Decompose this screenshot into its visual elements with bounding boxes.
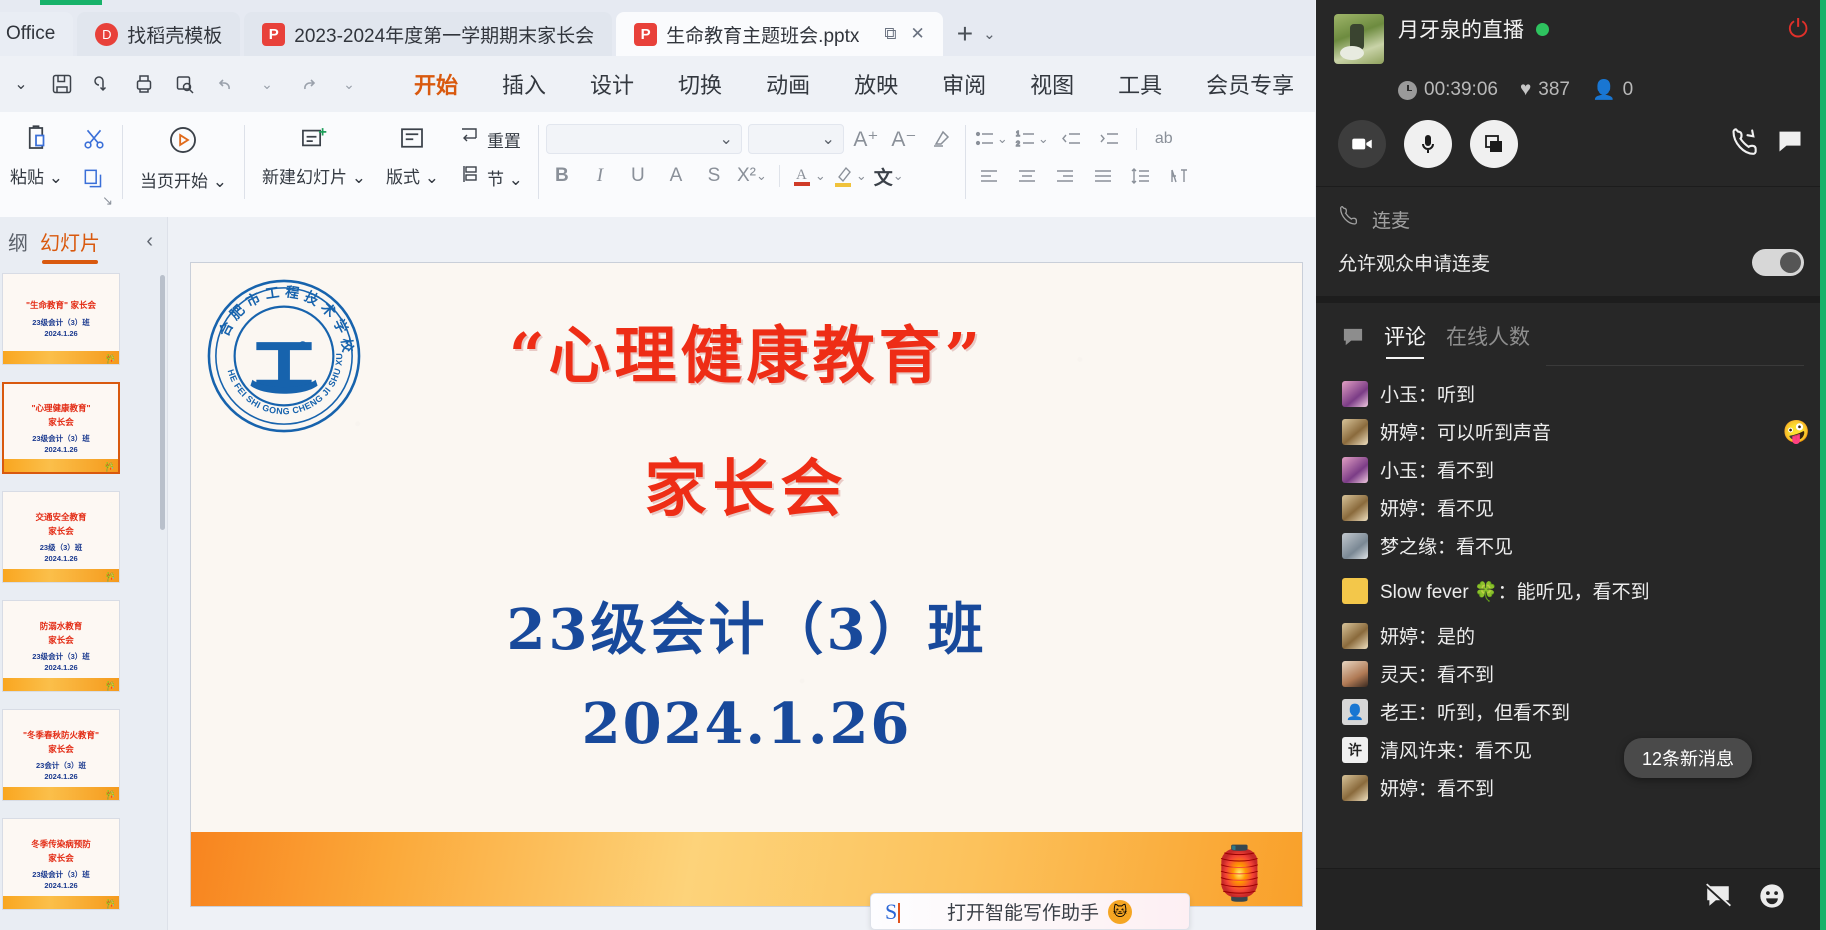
comment-text: 妍婷：看不到 xyxy=(1380,774,1494,801)
save-icon[interactable] xyxy=(43,65,81,103)
microphone-toggle-button[interactable] xyxy=(1404,120,1452,168)
pinyin-guide-button[interactable]: ab xyxy=(1148,124,1180,154)
thumb-footer-band xyxy=(3,678,119,691)
bold-button[interactable]: B xyxy=(546,161,578,191)
new-slide-button[interactable]: 新建幻灯片 ⌄ xyxy=(252,117,376,188)
ribbon-tab-design[interactable]: 设计 xyxy=(568,62,656,106)
avatar xyxy=(1342,775,1368,801)
emoji-icon[interactable] xyxy=(1758,882,1786,917)
thumb-title2: 家长会 xyxy=(48,852,74,864)
print-icon[interactable] xyxy=(125,65,163,103)
slide-thumbnail[interactable]: "冬季春秋防火教育" 家长会 23会计（3）班 2024.1.26 xyxy=(2,709,120,801)
start-from-current-button[interactable]: 当页开始 ⌄ xyxy=(130,117,237,192)
list-item: Slow fever 🍀：能听见，看不到 xyxy=(1342,577,1810,604)
thumb-title: 防溺水教育 xyxy=(40,620,83,633)
section-button[interactable]: 节 ⌄ xyxy=(449,159,531,195)
chevron-down-icon[interactable]: ⌄ xyxy=(2,65,40,103)
increase-indent-icon[interactable] xyxy=(1093,124,1125,154)
tab-label: 2023-2024年度第一学期期末家长会 xyxy=(294,21,594,48)
stat-viewers: 👤 0 xyxy=(1592,78,1633,102)
reaction-emoji: 🤪 xyxy=(1783,419,1810,445)
tab-life-education-pptx[interactable]: P 生命教育主题班会.pptx ⧉ ✕ xyxy=(616,12,943,56)
comment-text: 清风许来：看不见 xyxy=(1380,736,1532,763)
avatar xyxy=(1342,495,1368,521)
ribbon-tab-insert[interactable]: 插入 xyxy=(480,62,568,106)
stat-duration: 00:39:06 xyxy=(1398,79,1498,101)
thumb-footer-band xyxy=(3,569,119,582)
svg-text:1: 1 xyxy=(1016,131,1020,138)
assistant-label: 打开智能写作助手 xyxy=(947,898,1099,925)
slides-panel-scrollbar[interactable] xyxy=(160,275,165,530)
outline-tab[interactable]: 纲 xyxy=(8,227,28,256)
current-slide[interactable]: 合肥市工程技术学校 HE FEI SHI GONG CHENG JI SHU X… xyxy=(190,262,1303,907)
thumb-title2: 家长会 xyxy=(48,634,74,646)
avatar xyxy=(1342,419,1368,445)
align-right-icon[interactable] xyxy=(1049,161,1081,191)
divider xyxy=(538,125,539,199)
lantern-decoration-icon: 🏮 xyxy=(1207,843,1272,904)
person-icon: 👤 xyxy=(1592,78,1616,102)
justify-icon[interactable] xyxy=(1087,161,1119,191)
avatar xyxy=(1342,578,1368,604)
thumb-title2: 家长会 xyxy=(48,743,74,755)
live-controls xyxy=(1316,102,1826,168)
highlight-button[interactable]: ⌄ xyxy=(832,161,867,191)
decrease-indent-icon[interactable] xyxy=(1055,124,1087,154)
new-messages-badge[interactable]: 12条新消息 xyxy=(1624,738,1752,778)
text-direction-icon[interactable] xyxy=(1163,161,1195,191)
thumb-title2: 家长会 xyxy=(48,525,74,537)
ribbon-tabs: 开始 插入 设计 切换 动画 放映 审阅 视图 工具 会员专享 xyxy=(392,62,1316,106)
ribbon-tab-member[interactable]: 会员专享 xyxy=(1184,62,1316,106)
paste-icon xyxy=(21,123,51,159)
line-spacing-icon[interactable] xyxy=(1125,161,1157,191)
thumb-title: 交通安全教育 xyxy=(35,511,86,524)
live-panel-tabs: 评论 在线人数 xyxy=(1316,303,1826,359)
ribbon-tab-tools[interactable]: 工具 xyxy=(1096,62,1184,106)
ribbon-group-paragraph: ⌄ 12 ⌄ ab xyxy=(973,117,1195,213)
ribbon-tab-transition[interactable]: 切换 xyxy=(656,62,744,106)
font-size-select[interactable]: ⌄ xyxy=(748,124,844,154)
document-tab-bar: Office D 找稻壳模板 P 2023-2024年度第一学期期末家长会 P … xyxy=(0,0,1315,56)
stat-likes: ♥ 387 xyxy=(1520,79,1570,101)
avatar xyxy=(1342,457,1368,483)
italic-button[interactable]: I xyxy=(584,161,616,191)
tab-online-count[interactable]: 在线人数 xyxy=(1446,321,1530,359)
thumb-footer-band xyxy=(4,459,118,472)
thumb-title: "生命教育" 家长会 xyxy=(26,299,96,312)
new-slide-label: 新建幻灯片 ⌄ xyxy=(262,163,366,188)
chevron-down-icon: ⌄ xyxy=(720,129,733,149)
list-item: 小玉：看不到 xyxy=(1342,456,1810,483)
collapse-panel-icon[interactable]: ‹ xyxy=(146,230,159,253)
ribbon-group-clipboard: 粘贴 ⌄ ↘ xyxy=(0,117,115,213)
menu-bar: ⌄ ⌄ ⌄ xyxy=(0,56,1315,112)
comment-bubble-icon xyxy=(1342,327,1364,353)
paste-button[interactable]: 粘贴 ⌄ xyxy=(0,117,73,188)
underline-button[interactable]: U xyxy=(622,161,654,191)
list-item: 妍婷：看不见 xyxy=(1342,494,1810,521)
window-accent-bar xyxy=(40,0,102,5)
thumb-line1: 23级（3）班 xyxy=(40,542,83,553)
avatar xyxy=(1342,699,1368,725)
live-stream-panel: 月牙泉的直播 ⏻ 00:39:06 ♥ 387 👤 0 xyxy=(1316,0,1826,930)
avatar xyxy=(1342,623,1368,649)
numbered-list-icon[interactable]: 12 ⌄ xyxy=(1014,124,1049,154)
layout-label: 版式 ⌄ xyxy=(386,163,439,188)
comments-list[interactable]: 小玉：听到 妍婷：可以听到声音 🤪 小玉：看不到 妍婷：看不见 梦之缘：看不见 xyxy=(1316,366,1826,801)
new-tab-button[interactable]: + xyxy=(957,20,973,48)
ribbon-toolbar: 粘贴 ⌄ ↘ xyxy=(0,112,1315,217)
character-border-button[interactable]: A xyxy=(660,161,692,191)
bullet-list-icon[interactable]: ⌄ xyxy=(973,124,1008,154)
increase-font-size-button[interactable]: A⁺ xyxy=(850,124,882,154)
thumb-line2: 2024.1.26 xyxy=(44,328,77,339)
allow-lianmai-label: 允许观众申请连麦 xyxy=(1338,249,1490,276)
power-off-icon[interactable]: ⏻ xyxy=(1788,17,1808,42)
slides-panel-header: 纲 幻灯片 ‹ xyxy=(0,217,167,265)
comment-text: 小玉：听到 xyxy=(1380,380,1475,407)
camera-toggle-button[interactable] xyxy=(1338,120,1386,168)
slide-title-line2: 家长会 xyxy=(191,438,1302,528)
undo-icon[interactable] xyxy=(207,65,245,103)
list-item: 妍婷：是的 xyxy=(1342,622,1810,649)
thumb-line2: 2024.1.26 xyxy=(44,771,77,782)
allow-lianmai-toggle[interactable] xyxy=(1752,249,1804,276)
thumb-line2: 2024.1.26 xyxy=(44,662,77,673)
list-item: 小玉：听到 xyxy=(1342,380,1810,407)
powerpoint-icon: P xyxy=(262,23,285,46)
likes-value: 387 xyxy=(1538,79,1570,101)
thumb-line2: 2024.1.26 xyxy=(44,880,77,891)
start-label: 当页开始 ⌄ xyxy=(140,167,227,192)
undo-dropdown-icon[interactable]: ⌄ xyxy=(248,65,286,103)
align-center-icon[interactable] xyxy=(1011,161,1043,191)
ribbon-tab-view[interactable]: 视图 xyxy=(1008,62,1096,106)
live-stats: 00:39:06 ♥ 387 👤 0 xyxy=(1398,78,1826,102)
tab-docer-template[interactable]: D 找稻壳模板 xyxy=(77,12,240,56)
allow-lianmai-row: 允许观众申请连麦 xyxy=(1316,233,1826,296)
avatar xyxy=(1334,14,1384,64)
list-item: 灵天：看不到 xyxy=(1342,660,1810,687)
divider xyxy=(965,125,966,199)
thumb-line1: 23级会计（3）班 xyxy=(32,869,90,880)
comment-text: 妍婷：可以听到声音 xyxy=(1380,418,1551,445)
reset-label: 重置 xyxy=(487,127,521,152)
tab-label: Office xyxy=(6,23,55,45)
thumb-footer-band xyxy=(3,351,119,364)
svg-text:2: 2 xyxy=(1016,141,1020,148)
ribbon-tab-start[interactable]: 开始 xyxy=(392,62,480,106)
thumb-line2: 2024.1.26 xyxy=(44,444,77,455)
thumb-footer-band xyxy=(3,787,119,800)
cut-button[interactable] xyxy=(73,123,115,161)
comment-text: 梦之缘：看不见 xyxy=(1380,532,1513,559)
avatar xyxy=(1342,381,1368,407)
lianmai-section-header: 连麦 xyxy=(1316,187,1826,233)
comment-text: 妍婷：看不见 xyxy=(1380,494,1494,521)
share-screen-button[interactable] xyxy=(1470,120,1518,168)
slide-thumbnail[interactable]: 交通安全教育 家长会 23级（3）班 2024.1.26 xyxy=(2,491,120,583)
comment-text: 灵天：看不到 xyxy=(1380,660,1494,687)
text-effect-button[interactable]: 文⌄ xyxy=(873,161,905,191)
live-title: 月牙泉的直播 xyxy=(1398,14,1524,44)
scissors-icon xyxy=(81,126,107,158)
thumb-footer-band xyxy=(3,896,119,909)
slide-thumbnail[interactable]: "生命教育" 家长会 23级会计（3）班 2024.1.26 xyxy=(2,273,120,365)
layout-button[interactable]: 版式 ⌄ xyxy=(376,117,449,188)
tab-comments[interactable]: 评论 xyxy=(1384,321,1426,359)
clock-icon xyxy=(1398,81,1417,100)
thumb-title: "心理健康教育" xyxy=(31,402,90,415)
more-commands-icon[interactable]: ⌄ xyxy=(330,65,368,103)
paste-label: 粘贴 ⌄ xyxy=(10,163,63,188)
ribbon-group-slideshow: 当页开始 ⌄ xyxy=(130,117,237,213)
live-status-dot xyxy=(1536,23,1549,36)
avatar xyxy=(1342,661,1368,687)
decrease-font-size-button[interactable]: A⁻ xyxy=(888,124,920,154)
list-item: 梦之缘：看不见 xyxy=(1342,532,1810,559)
avatar xyxy=(1342,533,1368,559)
comment-text: 妍婷：是的 xyxy=(1380,622,1475,649)
thumb-line1: 23级会计（3）班 xyxy=(32,317,90,328)
avatar xyxy=(1342,737,1368,763)
duration-value: 00:39:06 xyxy=(1424,79,1498,101)
font-color-button[interactable]: A ⌄ xyxy=(791,161,826,191)
reset-button[interactable]: 重置 xyxy=(449,121,531,157)
thumb-line1: 23级会计（3）班 xyxy=(32,433,90,444)
tab-parent-meeting-ppt[interactable]: P 2023-2024年度第一学期期末家长会 xyxy=(244,12,612,56)
slide-subtitle-class: 23级会计（3）班 xyxy=(191,585,1302,666)
divider xyxy=(1136,128,1137,150)
ribbon-tab-animation[interactable]: 动画 xyxy=(744,62,832,106)
call-icon[interactable] xyxy=(1730,127,1758,162)
list-item: 老王：听到，但看不到 xyxy=(1342,698,1810,725)
divider xyxy=(122,125,123,199)
thumb-line1: 23会计（3）班 xyxy=(36,760,86,771)
tab-label: 找稻壳模板 xyxy=(127,21,222,48)
comment-text: 老王：听到，但看不到 xyxy=(1380,698,1570,725)
assistant-input[interactable]: S xyxy=(885,899,909,925)
thumb-title: "冬季春秋防火教育" xyxy=(23,729,99,742)
heart-icon: ♥ xyxy=(1520,79,1531,101)
wps-ai-mascot-icon: 🐱 xyxy=(1108,900,1132,924)
cloud-sync-icon[interactable] xyxy=(84,65,122,103)
tab-label: 生命教育主题班会.pptx xyxy=(666,21,859,48)
docer-icon: D xyxy=(95,23,118,46)
powerpoint-icon: P xyxy=(634,23,657,46)
reset-icon xyxy=(457,124,481,154)
align-left-icon[interactable] xyxy=(973,161,1005,191)
strikethrough-button[interactable]: S xyxy=(698,161,730,191)
lianmai-label: 连麦 xyxy=(1372,206,1410,233)
divider xyxy=(779,165,780,187)
live-header: 月牙泉的直播 ⏻ xyxy=(1316,0,1826,64)
chevron-down-icon[interactable]: ⌄ xyxy=(983,25,996,43)
redo-icon[interactable] xyxy=(289,65,327,103)
print-preview-icon[interactable] xyxy=(166,65,204,103)
lianmai-icon xyxy=(1338,205,1360,233)
thumb-line2: 2024.1.26 xyxy=(44,553,77,564)
svg-text:A: A xyxy=(796,167,807,183)
clear-format-icon[interactable] xyxy=(926,124,958,154)
ribbon-tab-review[interactable]: 审阅 xyxy=(920,62,1008,106)
smart-writing-assistant-popup[interactable]: S 打开智能写作助手 🐱 xyxy=(870,893,1190,930)
ribbon-group-slides: 新建幻灯片 ⌄ 版式 ⌄ 重置 xyxy=(252,117,531,213)
slide-thumbnail[interactable]: 冬季传染病预防 家长会 23级会计（3）班 2024.1.26 xyxy=(2,818,120,910)
divider xyxy=(1316,296,1826,303)
tab-office[interactable]: Office xyxy=(0,12,73,56)
thumb-line1: 23级会计（3）班 xyxy=(32,651,90,662)
font-name-select[interactable]: ⌄ xyxy=(546,124,742,154)
chevron-down-icon: ⌄ xyxy=(822,129,835,149)
slide-subtitle-date: 2024.1.26 xyxy=(191,691,1302,757)
slides-tab[interactable]: 幻灯片 xyxy=(40,227,100,256)
thumb-title: 冬季传染病预防 xyxy=(31,838,91,851)
present-screen-icon[interactable]: ⧉ xyxy=(884,24,896,44)
clipboard-expand-icon[interactable]: ↘ xyxy=(102,193,113,209)
ribbon-tab-slideshow[interactable]: 放映 xyxy=(832,62,920,106)
chat-icon[interactable] xyxy=(1776,127,1804,162)
slide-thumbnail[interactable]: "心理健康教育" 家长会 23级会计（3）班 2024.1.26 xyxy=(2,382,120,474)
slide-thumbnail-list[interactable]: "生命教育" 家长会 23级会计（3）班 2024.1.26 "心理健康教育" … xyxy=(0,265,167,930)
quick-access-toolbar: ⌄ ⌄ ⌄ xyxy=(0,65,368,103)
list-item: 妍婷：可以听到声音 🤪 xyxy=(1342,418,1810,445)
close-icon[interactable]: ✕ xyxy=(911,24,925,44)
superscript-button[interactable]: X²⌄ xyxy=(736,161,768,191)
play-circle-icon xyxy=(166,123,200,163)
comment-text: Slow fever 🍀：能听见，看不到 xyxy=(1380,577,1650,604)
slide-thumbnail[interactable]: 防溺水教育 家长会 23级会计（3）班 2024.1.26 xyxy=(2,600,120,692)
comment-muted-icon[interactable] xyxy=(1704,883,1732,916)
section-icon xyxy=(457,162,481,192)
viewers-value: 0 xyxy=(1623,79,1634,101)
layout-icon xyxy=(397,123,427,159)
list-item: 妍婷：看不到 xyxy=(1342,774,1810,801)
section-label: 节 ⌄ xyxy=(487,165,523,190)
slides-panel: 纲 幻灯片 ‹ "生命教育" 家长会 23级会计（3）班 2024.1.26 "… xyxy=(0,217,168,930)
slide-title-line1: “心理健康教育” xyxy=(191,305,1302,395)
divider xyxy=(244,125,245,199)
ribbon-group-font: ⌄ ⌄ A⁺ A⁻ B I xyxy=(546,117,958,213)
new-slide-icon xyxy=(298,123,330,159)
thumb-title2: 家长会 xyxy=(48,416,74,428)
comment-input-footer xyxy=(1316,868,1820,930)
comment-text: 小玉：看不到 xyxy=(1380,456,1494,483)
